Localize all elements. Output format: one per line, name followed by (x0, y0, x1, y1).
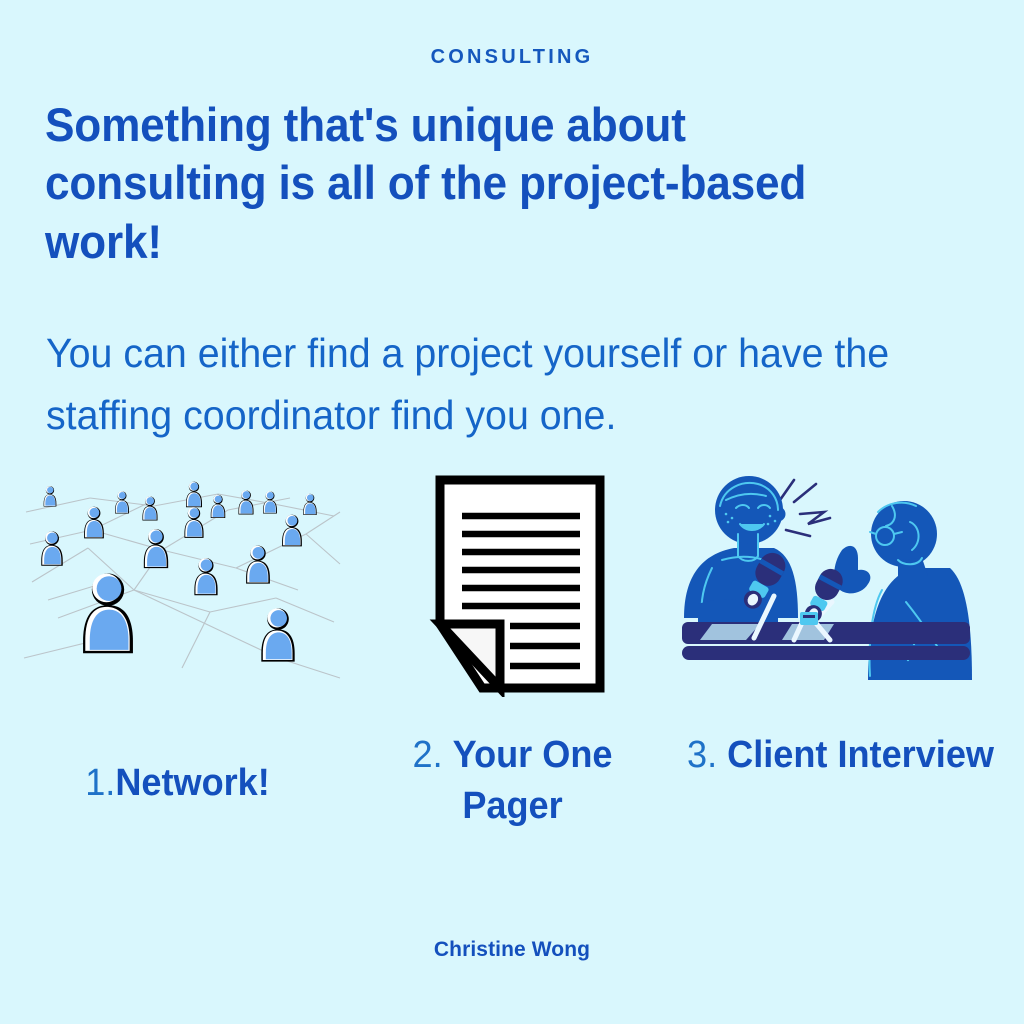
eyebrow-label: CONSULTING (0, 46, 1024, 69)
step-number-3: 3. (687, 734, 717, 776)
step-label-1: Network! (115, 762, 269, 804)
step-label-2: Your One Pager (453, 734, 613, 827)
step-number-2: 2. (413, 734, 443, 776)
document-page-icon (422, 472, 618, 697)
step-number-1: 1. (85, 762, 115, 804)
page-title: Something that's unique about consulting… (45, 96, 891, 271)
network-people-icon (22, 472, 342, 697)
interview-people-icon (682, 472, 977, 682)
illustration-row (0, 472, 1024, 697)
step-caption-1: 1.Network! (9, 758, 346, 809)
body-copy: You can either find a project yourself o… (46, 322, 948, 447)
step-label-3: Client Interview (727, 734, 994, 776)
step-captions: 1.Network! 2. Your One Pager 3. Client I… (0, 722, 1024, 842)
step-caption-2: 2. Your One Pager (368, 730, 658, 832)
slide-canvas: CONSULTING Something that's unique about… (0, 0, 1024, 1024)
step-caption-3: 3. Client Interview (677, 730, 1005, 781)
author-credit: Christine Wong (0, 938, 1024, 962)
